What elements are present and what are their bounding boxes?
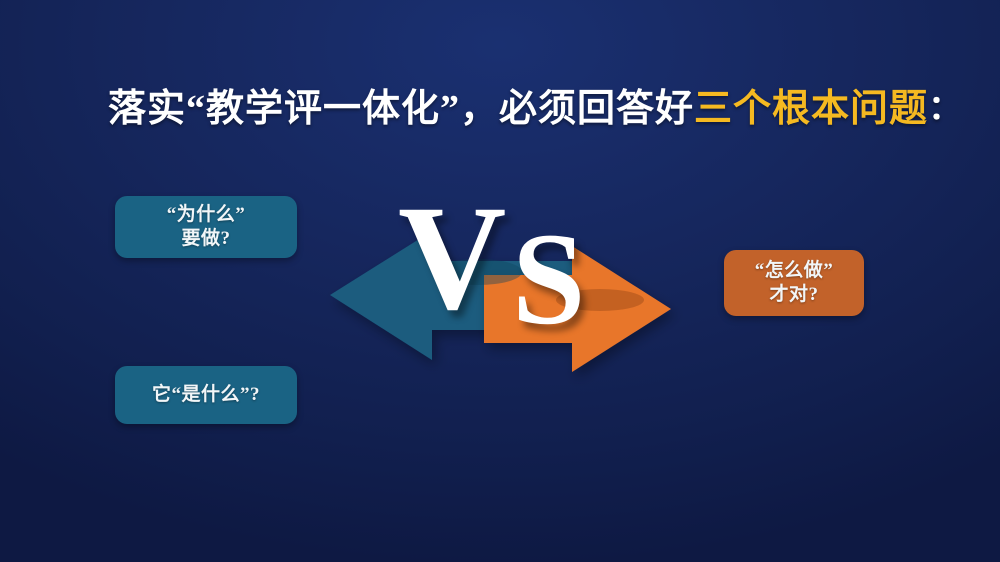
page-title: 落实“教学评一体化”，必须回答好三个根本问题： xyxy=(108,80,928,138)
callout-box-why[interactable]: “为什么” 要做? xyxy=(115,196,297,258)
title-text-white: 落实“教学评一体化”，必须回答好 xyxy=(108,90,694,128)
callout-why-line1: “为什么” xyxy=(167,203,246,227)
letter-v: V xyxy=(398,183,506,333)
title-text-colon: ： xyxy=(928,92,963,126)
left-arrow-icon xyxy=(330,231,588,360)
callout-how-line1: “怎么做” xyxy=(755,259,834,283)
presentation-slide: 落实“教学评一体化”，必须回答好三个根本问题： V S “为什么” 要做? 它“… xyxy=(0,0,1000,562)
callout-box-how[interactable]: “怎么做” 才对? xyxy=(724,250,864,316)
callout-how-line2: 才对? xyxy=(769,283,818,307)
callout-what-line1: 它“是什么”? xyxy=(152,383,260,407)
letter-s-cast-shadow xyxy=(556,289,644,311)
callout-box-what[interactable]: 它“是什么”? xyxy=(115,366,297,424)
title-text-highlight: 三个根本问题 xyxy=(694,90,928,128)
callout-why-line2: 要做? xyxy=(181,227,230,251)
letter-v-cast-shadow xyxy=(434,259,522,285)
right-arrow-icon xyxy=(484,246,671,372)
letter-s: S xyxy=(512,213,585,345)
